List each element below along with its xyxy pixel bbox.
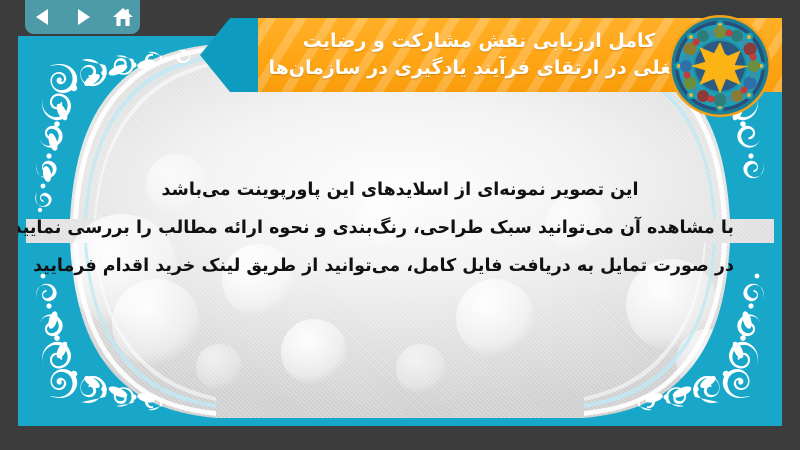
viewer-bottom-strip <box>0 426 800 450</box>
bokeh-circle <box>456 279 534 357</box>
banner-tail-icon <box>200 18 260 92</box>
bokeh-circle <box>281 319 347 385</box>
body-line-3: در صورت تمایل به دریافت فایل کامل، می‌تو… <box>66 248 734 286</box>
slide-body-text: این تصویر نمونه‌ای از اسلایدهای این پاور… <box>66 172 734 285</box>
title-line-1: کامل ارزیابی نقش مشارکت و رضایت <box>303 28 655 55</box>
home-button[interactable] <box>110 5 136 29</box>
next-slide-button[interactable] <box>70 5 96 29</box>
body-line-1: این تصویر نمونه‌ای از اسلایدهای این پاور… <box>66 172 734 210</box>
slide-viewer: این تصویر نمونه‌ای از اسلایدهای این پاور… <box>0 0 800 450</box>
bokeh-circle <box>676 329 740 393</box>
home-icon <box>112 6 134 28</box>
previous-slide-button[interactable] <box>30 5 56 29</box>
triangle-right-icon <box>73 7 93 27</box>
triangle-left-icon <box>33 7 53 27</box>
bokeh-circle <box>112 279 200 367</box>
bokeh-circle <box>196 344 242 390</box>
bokeh-circle <box>396 344 446 394</box>
body-line-2: با مشاهده آن می‌توانید سبک طراحی، رنگ‌بن… <box>66 210 734 248</box>
slide-canvas: این تصویر نمونه‌ای از اسلایدهای این پاور… <box>26 44 774 418</box>
title-line-2: شغلی در ارتقای فرآیند یادگیری در سازمان‌… <box>268 55 689 82</box>
circular-mandala-medallion-icon <box>668 14 772 118</box>
slide-navigation-bar <box>25 0 140 34</box>
